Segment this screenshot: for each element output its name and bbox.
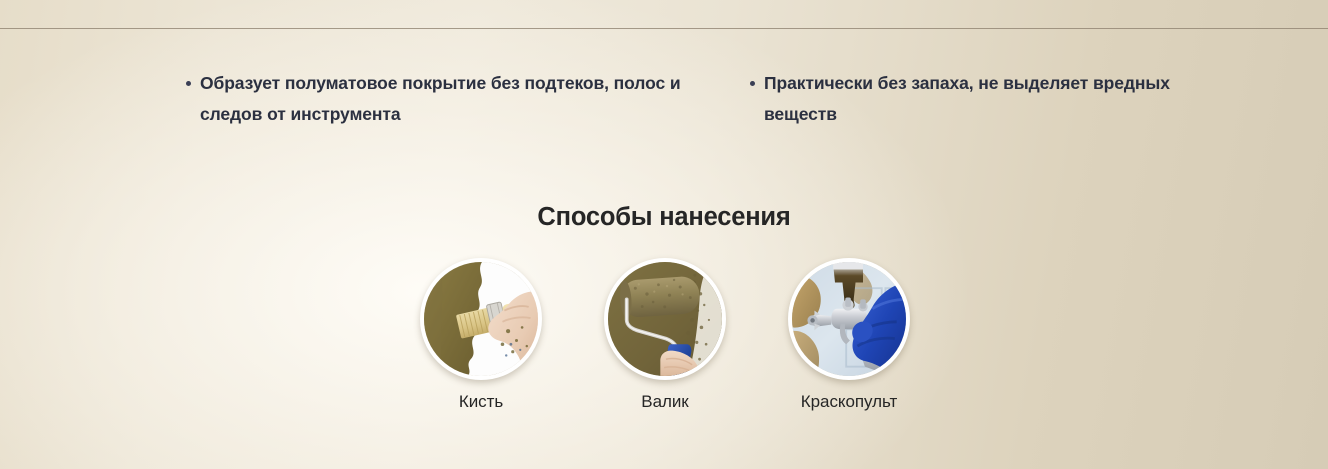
methods-section-title: Способы нанесения xyxy=(0,203,1328,232)
paint-brush-photo-icon xyxy=(424,262,538,376)
application-methods-list: Кисть xyxy=(420,258,912,418)
method-item-roller[interactable]: Валик xyxy=(604,258,726,412)
bullet-dot-icon xyxy=(186,81,191,86)
product-feature-section: Образует полуматовое покрытие без подтек… xyxy=(0,0,1328,469)
top-divider xyxy=(0,28,1328,29)
method-label-brush: Кисть xyxy=(420,392,542,412)
method-label-roller: Валик xyxy=(604,392,726,412)
bullet-dot-icon xyxy=(750,81,755,86)
method-label-sprayer: Краскопульт xyxy=(788,392,910,412)
feature-bullet-text: Образует полуматовое покрытие без подтек… xyxy=(200,68,706,130)
method-item-sprayer[interactable]: Краскопульт xyxy=(788,258,910,412)
method-item-brush[interactable]: Кисть xyxy=(420,258,542,412)
method-image-roller xyxy=(604,258,726,380)
method-image-sprayer xyxy=(788,258,910,380)
paint-roller-photo-icon xyxy=(608,262,722,376)
spray-gun-photo-icon xyxy=(792,262,906,376)
feature-bullet-odorless: Практически без запаха, не выделяет вред… xyxy=(750,68,1180,130)
feature-bullet-list: Образует полуматовое покрытие без подтек… xyxy=(0,68,1328,138)
method-image-brush xyxy=(420,258,542,380)
feature-bullet-semi-matte: Образует полуматовое покрытие без подтек… xyxy=(186,68,706,130)
feature-bullet-text: Практически без запаха, не выделяет вред… xyxy=(764,68,1180,130)
